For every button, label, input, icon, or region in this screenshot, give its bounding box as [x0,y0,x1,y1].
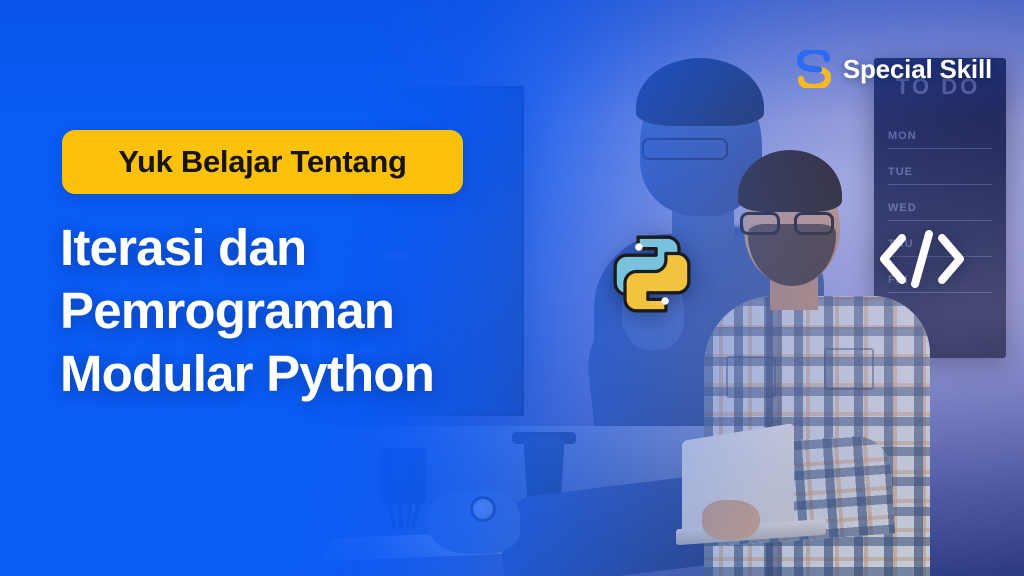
headline-line-3: Modular Python [60,342,620,405]
eyebrow-badge-text: Yuk Belajar Tentang [118,144,406,180]
brand-name: Special Skill [843,54,992,85]
headline: Iterasi dan Pemrograman Modular Python [60,216,620,405]
headline-line-1: Iterasi dan [60,216,620,279]
special-skill-s-logo-icon [797,50,831,88]
brand-lockup: Special Skill [797,50,992,88]
eyebrow-badge: Yuk Belajar Tentang [62,130,463,194]
banner-content: Special Skill Yuk Belajar Tentang Iteras… [0,0,1024,576]
headline-line-2: Pemrograman [60,279,620,342]
python-logo-icon [607,229,697,319]
code-brackets-icon [876,228,968,290]
promo-banner: TO DO MON TUE WED THU FRI [0,0,1024,576]
